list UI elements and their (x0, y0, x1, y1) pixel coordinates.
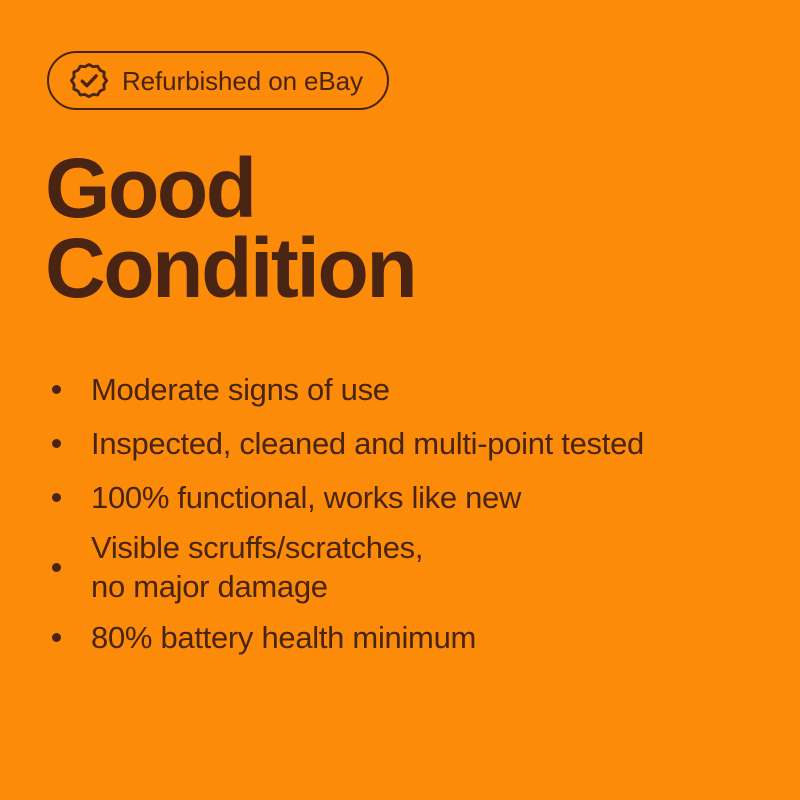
list-item: Visible scruffs/scratches, no major dama… (52, 524, 772, 610)
bullet-dot-icon (52, 563, 61, 572)
list-item: Inspected, cleaned and multi-point teste… (52, 416, 772, 470)
refurbished-badge: Refurbished on eBay (47, 51, 389, 110)
refurbished-condition-card: Refurbished on eBay Good Condition Moder… (0, 0, 800, 800)
bullet-dot-icon (52, 493, 61, 502)
page-title-line-1: Good (45, 148, 415, 228)
condition-feature-list: Moderate signs of use Inspected, cleaned… (52, 362, 772, 664)
bullet-dot-icon (52, 633, 61, 642)
list-item-label: Visible scruffs/scratches, no major dama… (91, 528, 423, 606)
list-item: 100% functional, works like new (52, 470, 772, 524)
bullet-dot-icon (52, 385, 61, 394)
page-title-line-2: Condition (45, 228, 415, 308)
verified-rosette-check-icon (70, 62, 108, 100)
list-item: Moderate signs of use (52, 362, 772, 416)
list-item-label: Inspected, cleaned and multi-point teste… (91, 424, 644, 463)
page-title: Good Condition (45, 148, 415, 308)
bullet-dot-icon (52, 439, 61, 448)
list-item-label: Moderate signs of use (91, 370, 390, 409)
list-item-label: 100% functional, works like new (91, 478, 521, 517)
list-item-label: 80% battery health minimum (91, 618, 476, 657)
list-item: 80% battery health minimum (52, 610, 772, 664)
refurbished-badge-label: Refurbished on eBay (122, 68, 363, 94)
